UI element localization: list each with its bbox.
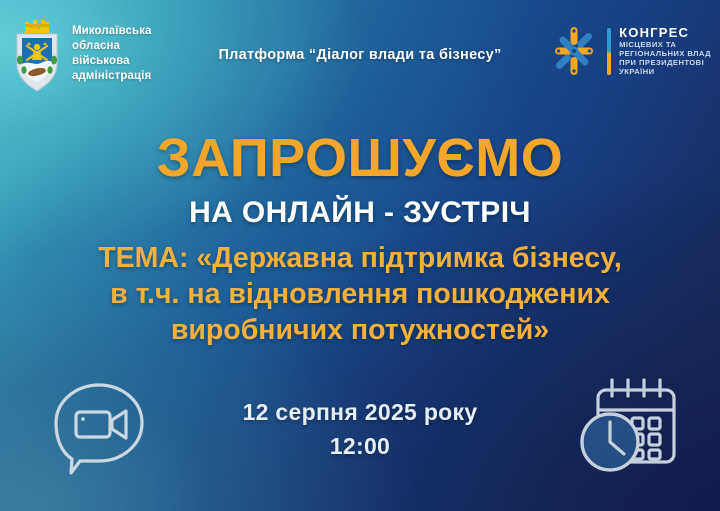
- theme-line-1: ТЕМА: «Державна підтримка бізнесу,: [24, 240, 696, 276]
- event-announcement-poster: Миколаївська обласна військова адміністр…: [0, 0, 720, 511]
- congress-accent-bar: [607, 28, 611, 75]
- oda-line-1: Миколаївська: [72, 24, 152, 39]
- congress-name: КОНГРЕС МІСЦЕВИХ ТА РЕГІОНАЛЬНИХ ВЛАД ПР…: [619, 25, 711, 76]
- theme-line-2: в т.ч. на відновлення пошкоджених: [24, 276, 696, 312]
- subheadline-online-meeting: НА ОНЛАЙН - ЗУСТРІЧ: [0, 198, 720, 228]
- congress-logo-block: КОНГРЕС МІСЦЕВИХ ТА РЕГІОНАЛЬНИХ ВЛАД ПР…: [549, 25, 711, 77]
- oda-line-4: адміністрація: [72, 69, 152, 84]
- meeting-theme: ТЕМА: «Державна підтримка бізнесу, в т.ч…: [24, 240, 696, 349]
- congress-line-4: УКРАЇНИ: [619, 68, 711, 77]
- theme-line-3: виробничих потужностей»: [24, 312, 696, 348]
- congress-pinwheel-emblem-icon: [549, 25, 599, 77]
- headline-invitation: ЗАПРОШУЄМО: [0, 131, 720, 185]
- poster-header: Миколаївська обласна військова адміністр…: [0, 0, 720, 108]
- congress-title: КОНГРЕС: [619, 25, 711, 40]
- calendar-clock-icon: [572, 372, 684, 480]
